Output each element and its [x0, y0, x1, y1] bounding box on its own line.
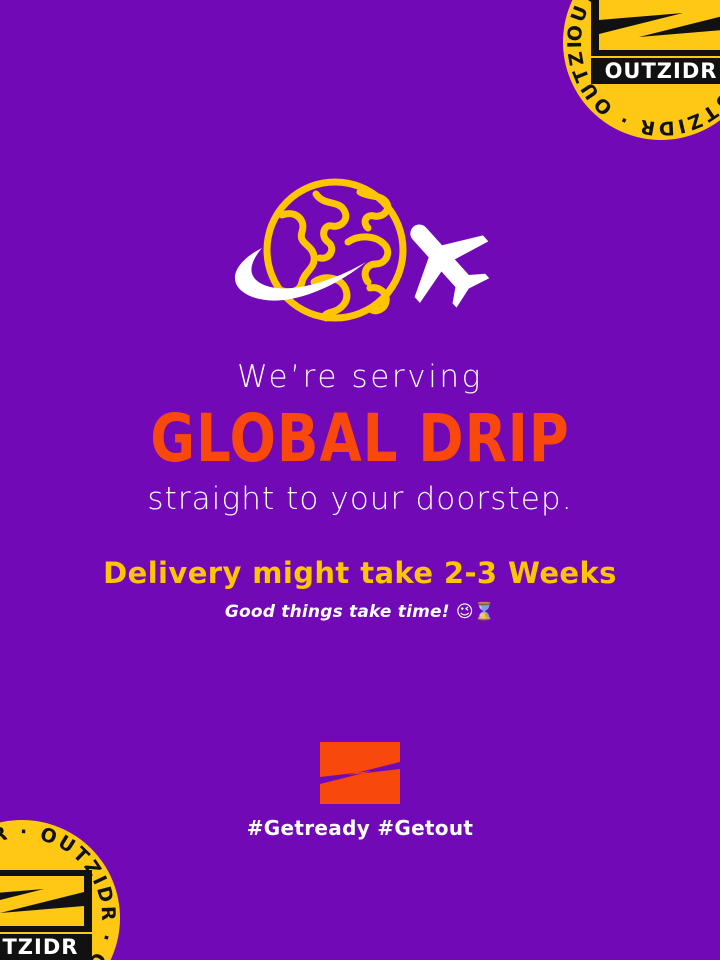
delivery-note-text: Good things take time!: [225, 602, 450, 622]
headline-text: GLOBAL DRIP: [29, 407, 691, 470]
outzidr-stamp-badge-top-right: OUTZIDR · OUTZIDR · OUTZIDR · OUTZIDR · …: [561, 0, 720, 146]
illustration-svg: [220, 170, 500, 350]
wink-hourglass-emoji: 😉⌛: [456, 602, 495, 622]
outzidr-z-logomark: [320, 742, 400, 804]
eyebrow-text: We’re serving: [0, 362, 720, 393]
tagline-text: straight to your doorstep.: [0, 484, 720, 515]
delivery-estimate-text: Delivery might take 2-3 Weeks: [0, 559, 720, 588]
outzidr-stamp-badge-bottom-left: OUTZIDR · OUTZIDR · OUTZIDR · OUTZIDR · …: [0, 818, 122, 960]
badge-svg-top-right: OUTZIDR · OUTZIDR · OUTZIDR · OUTZIDR · …: [561, 0, 720, 142]
badge-wordmark-text: OUTZIDR: [0, 935, 78, 959]
delivery-note: Good things take time! 😉⌛: [0, 604, 720, 621]
badge-wordmark-text: OUTZIDR: [605, 59, 718, 83]
badge-svg-bottom-left: OUTZIDR · OUTZIDR · OUTZIDR · OUTZIDR · …: [0, 818, 122, 960]
globe-plane-illustration: [0, 170, 720, 350]
promo-poster: We’re serving GLOBAL DRIP straight to yo…: [0, 0, 720, 960]
poster-copy: We’re serving GLOBAL DRIP straight to yo…: [0, 362, 720, 621]
